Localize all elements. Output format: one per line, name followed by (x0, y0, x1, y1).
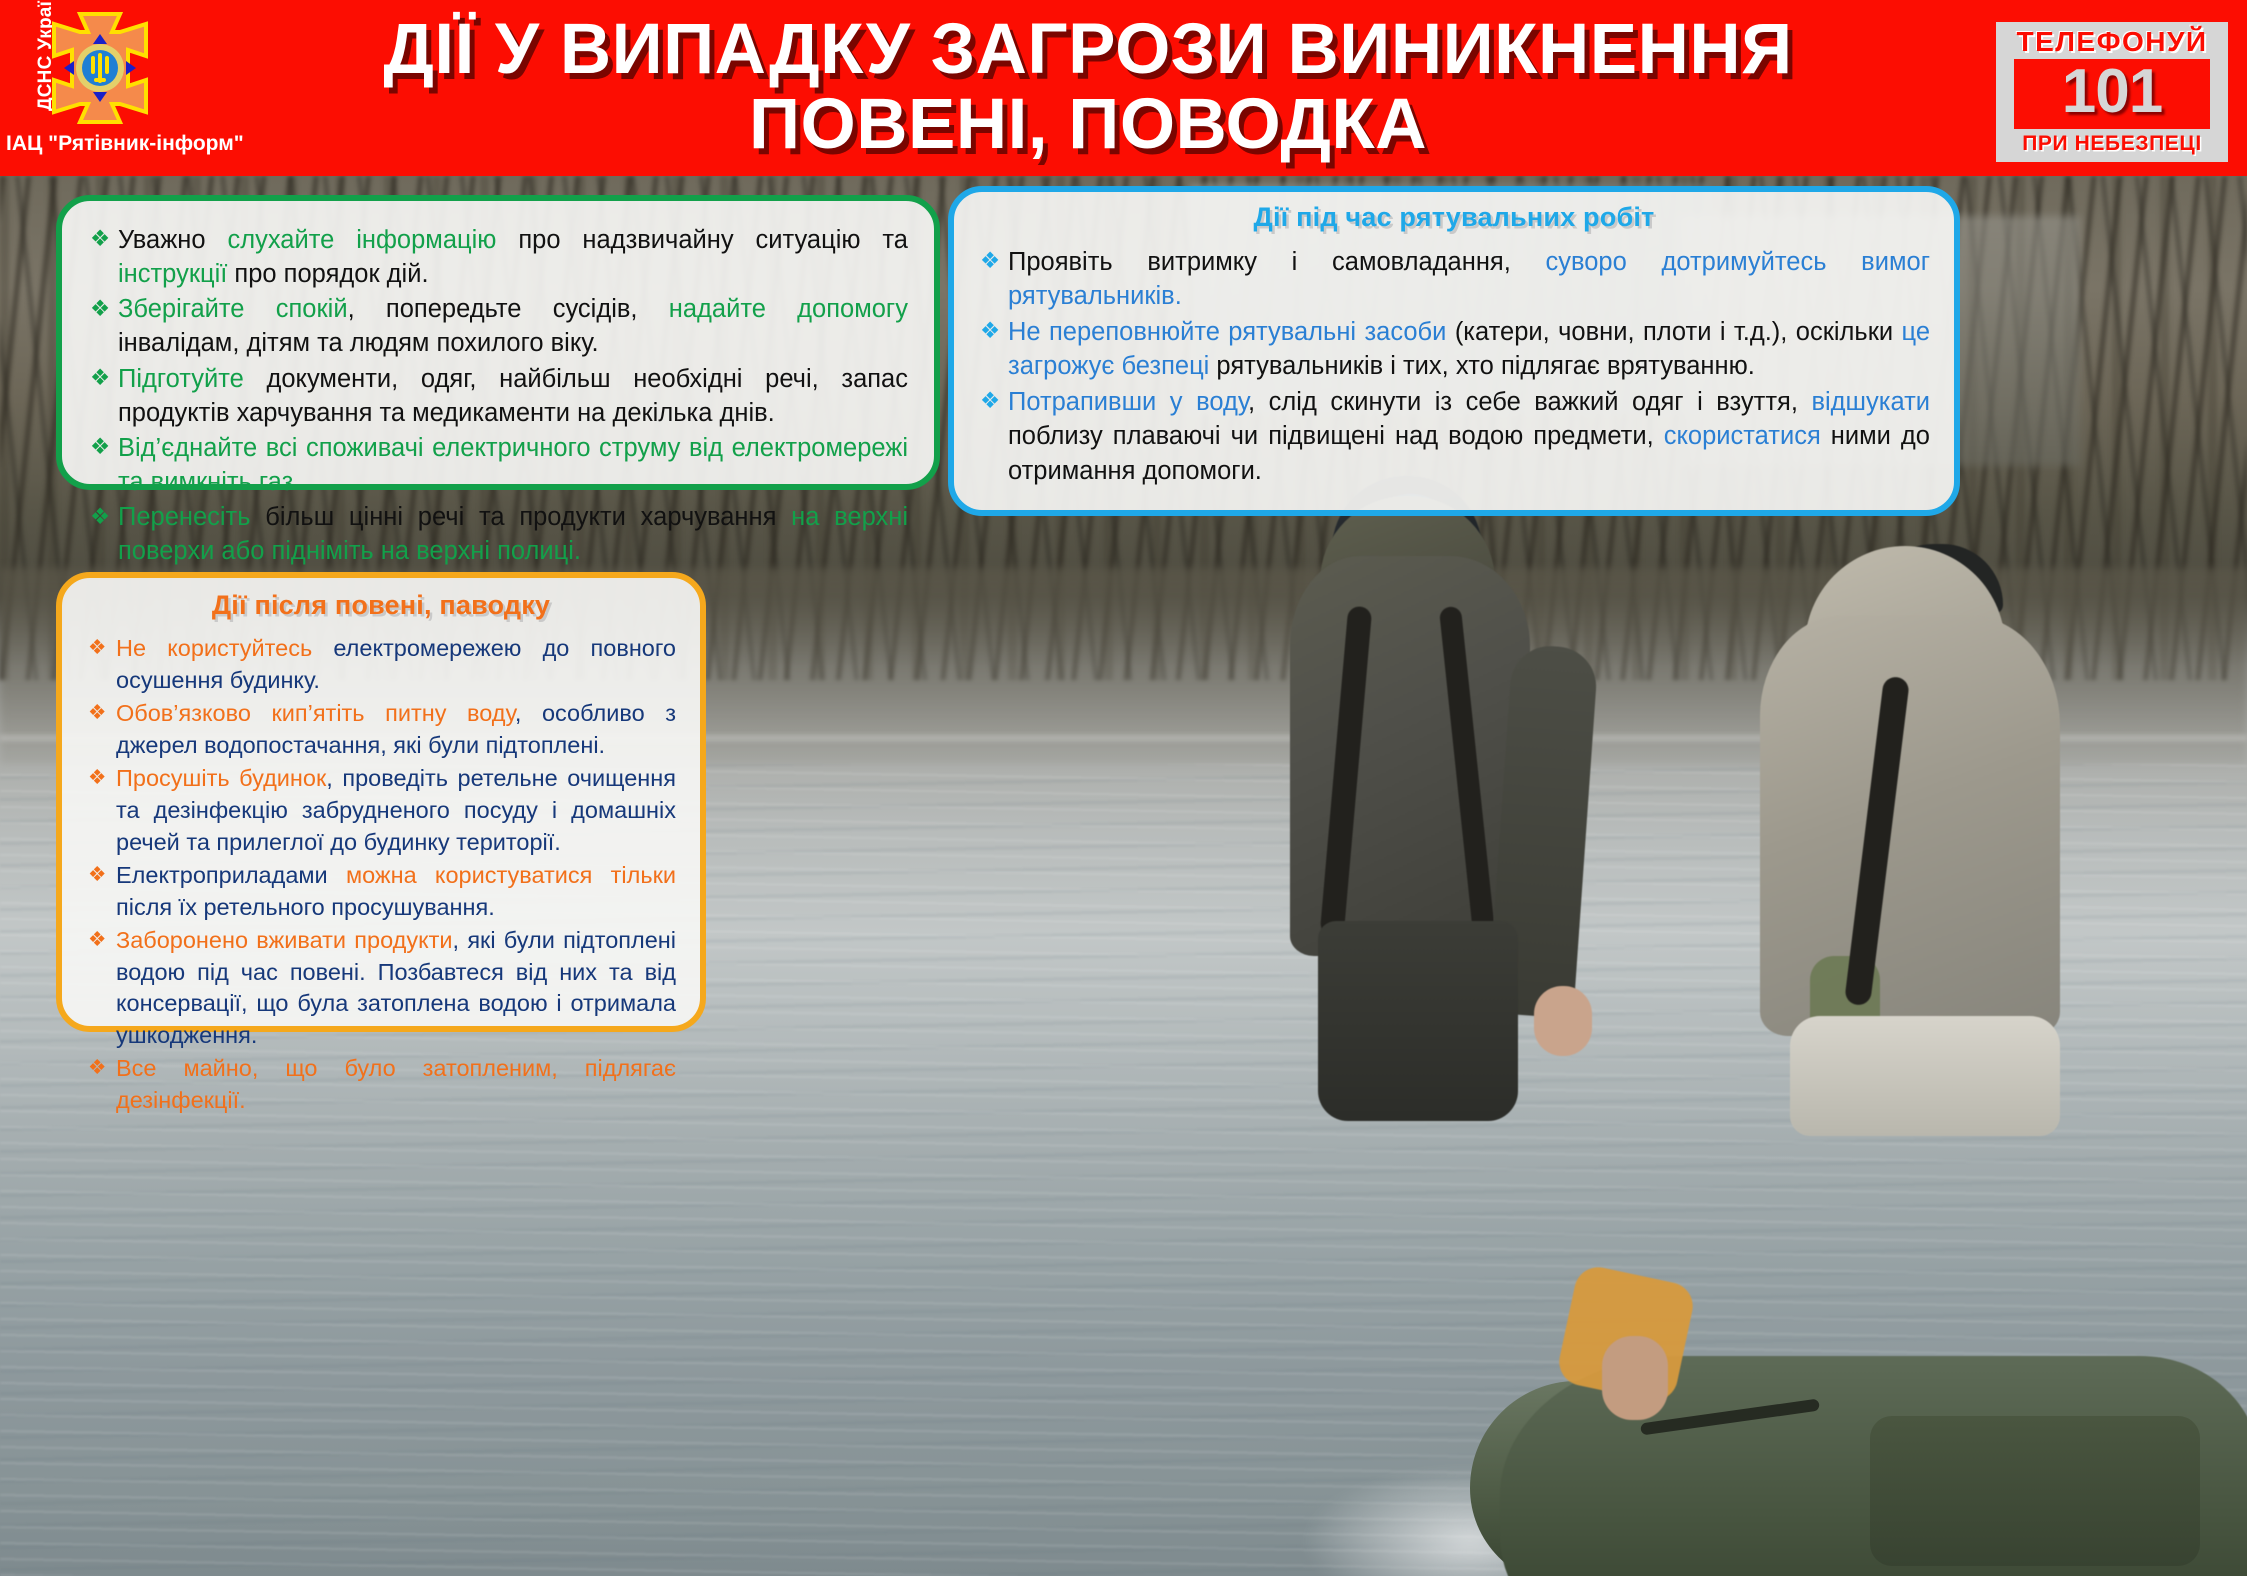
before-flood-item: ❖Уважно слухайте інформацію про надзвича… (88, 223, 908, 291)
diamond-bullet-icon: ❖ (980, 390, 1000, 412)
bullet-text-run: про порядок дій. (227, 260, 428, 288)
bullet-text-run: Уважно (118, 226, 227, 254)
bullet-text-run: Проявіть витримку і самовладання, (1008, 248, 1545, 276)
during-rescue-list: ❖Проявіть витримку і самовладання, сувор… (978, 245, 1930, 488)
bullet-text-run: Заборонено вживати продукти (116, 927, 453, 953)
bullet-text-run: можна користуватися тільки (346, 862, 676, 888)
bullet-text-run: відшукати (1811, 388, 1930, 416)
diamond-bullet-icon: ❖ (88, 1058, 107, 1079)
bullet-text-run: Просушіть будинок (116, 765, 326, 791)
panel-during-rescue: Дії під час рятувальних робіт ❖Проявіть … (948, 186, 1960, 516)
bullet-text-run: рятувальників і тих, хто підлягає врятув… (1209, 352, 1754, 380)
diamond-bullet-icon: ❖ (90, 367, 110, 389)
after-flood-item: ❖Електроприладами можна користуватися ті… (86, 860, 676, 924)
bullet-text-run: , попередьте сусідів, (348, 295, 669, 323)
diamond-bullet-icon: ❖ (90, 506, 110, 528)
page-title-line-2: ПОВЕНІ, ПОВОДКА (228, 87, 1948, 162)
phone-badge-top-label: ТЕЛЕФОНУЙ (1996, 27, 2228, 56)
panel-during-rescue-title: Дії під час рятувальних робіт (978, 202, 1930, 233)
bullet-text-run: скористатися (1664, 422, 1821, 450)
diamond-bullet-icon: ❖ (90, 436, 110, 458)
dsns-ukraine-cross-emblem (50, 10, 150, 126)
during-rescue-item: ❖Проявіть витримку і самовладання, сувор… (978, 245, 1930, 314)
after-flood-item: ❖Не користуйтесь електромережею до повно… (86, 633, 676, 697)
bullet-text-run: Перенесіть (118, 503, 251, 531)
before-flood-item: ❖Підготуйте документи, одяг, найбільш не… (88, 362, 908, 430)
after-flood-list: ❖Не користуйтесь електромережею до повно… (86, 633, 676, 1117)
bullet-text-run: про надзвичайну ситуацію та (496, 226, 908, 254)
before-flood-item: ❖Перенесіть більш цінні речі та продукти… (88, 500, 908, 568)
phone-number-box: 101 (2014, 59, 2210, 129)
diamond-bullet-icon: ❖ (88, 703, 107, 724)
after-flood-item: ❖Заборонено вживати продукти, які були п… (86, 925, 676, 1053)
bullet-text-run: поблизу плаваючі чи підвищені над водою … (1008, 422, 1664, 450)
rescuer-left-legs (1318, 921, 1518, 1121)
bullet-text-run: Обов’язково кип’ятіть питну воду (116, 700, 515, 726)
bullet-text-run: Не переповнюйте рятувальні засоби (1008, 318, 1446, 346)
diamond-bullet-icon: ❖ (88, 638, 107, 659)
after-flood-item: ❖Обов’язково кип’ятіть питну воду, особл… (86, 698, 676, 762)
bullet-text-run: Підготуйте (118, 365, 244, 393)
phone-number: 101 (2014, 61, 2210, 123)
bullet-text-run: інструкції (118, 260, 227, 288)
page-title-line-1: ДІЇ У ВИПАДКУ ЗАГРОЗИ ВИНИКНЕННЯ (228, 12, 1948, 87)
bullet-text-run: слухайте інформацію (227, 226, 496, 254)
emblem-block: ДСНС України ІАЦ "Рятівник-інформ" (10, 4, 220, 172)
phone-badge-bottom-label: ПРИ НЕБЕЗПЕЦІ (1996, 132, 2228, 156)
bullet-text-run: більш цінні речі та продукти харчування (251, 503, 792, 531)
diamond-bullet-icon: ❖ (980, 320, 1000, 342)
rescuer-left-hand (1534, 986, 1592, 1056)
diamond-bullet-icon: ❖ (90, 228, 110, 250)
bullet-text-run: інвалідам, дітям та людям похилого віку. (118, 329, 599, 357)
diamond-bullet-icon: ❖ (90, 298, 110, 320)
bullet-text-run: Не користуйтесь (116, 635, 312, 661)
diamond-bullet-icon: ❖ (88, 865, 107, 886)
panel-before-flood: ❖Уважно слухайте інформацію про надзвича… (56, 195, 940, 490)
diamond-bullet-icon: ❖ (88, 930, 107, 951)
during-rescue-item: ❖Не переповнюйте рятувальні засоби (кате… (978, 315, 1930, 384)
rescuer-right-body (1760, 616, 2060, 1036)
rescuer-right-hand (1602, 1336, 1668, 1420)
before-flood-item: ❖Від’єднайте всі споживачі електричного … (88, 431, 908, 499)
after-flood-item: ❖Все майно, що було затопленим, підлягає… (86, 1053, 676, 1117)
bullet-text-run: надайте допомогу (669, 295, 908, 323)
after-flood-item: ❖Просушіть будинок, проведіть ретельне о… (86, 763, 676, 859)
before-flood-item: ❖Зберігайте спокій, попередьте сусідів, … (88, 292, 908, 360)
diamond-bullet-icon: ❖ (980, 250, 1000, 272)
bullet-text-run: Зберігайте спокій (118, 295, 348, 323)
bullet-text-run: Все майно, що було затопленим, підлягає … (116, 1055, 676, 1113)
bullet-text-run: Від’єднайте всі споживачі електричного с… (118, 434, 908, 496)
bullet-text-run: , слід скинути із себе важкий одяг і взу… (1248, 388, 1811, 416)
emergency-phone-badge: ТЕЛЕФОНУЙ 101 ПРИ НЕБЕЗПЕЦІ (1996, 22, 2228, 162)
poster-root: ДСНС України ІАЦ "Рятівник-інформ" ДІЇ У… (0, 0, 2247, 1576)
panel-after-flood: Дії після повені, паводку ❖Не користуйте… (56, 572, 706, 1032)
header-bar: ДСНС України ІАЦ "Рятівник-інформ" ДІЇ У… (0, 0, 2247, 176)
page-title: ДІЇ У ВИПАДКУ ЗАГРОЗИ ВИНИКНЕННЯ ПОВЕНІ,… (228, 12, 1948, 163)
panel-after-flood-title: Дії після повені, паводку (86, 590, 676, 621)
boat-deck (1870, 1416, 2200, 1566)
bullet-text-run: Потрапивши у воду (1008, 388, 1248, 416)
bullet-text-run: (катери, човни, плоти і т.д.), оскільки (1446, 318, 1901, 346)
during-rescue-item: ❖Потрапивши у воду, слід скинути із себе… (978, 385, 1930, 488)
emblem-label-horizontal: ІАЦ "Рятівник-інформ" (6, 132, 221, 156)
rescuer-right-seat (1790, 1016, 2060, 1136)
bullet-text-run: після їх ретельного просушування. (116, 894, 495, 920)
bullet-text-run: Електроприладами (116, 862, 346, 888)
diamond-bullet-icon: ❖ (88, 768, 107, 789)
before-flood-list: ❖Уважно слухайте інформацію про надзвича… (88, 223, 908, 569)
